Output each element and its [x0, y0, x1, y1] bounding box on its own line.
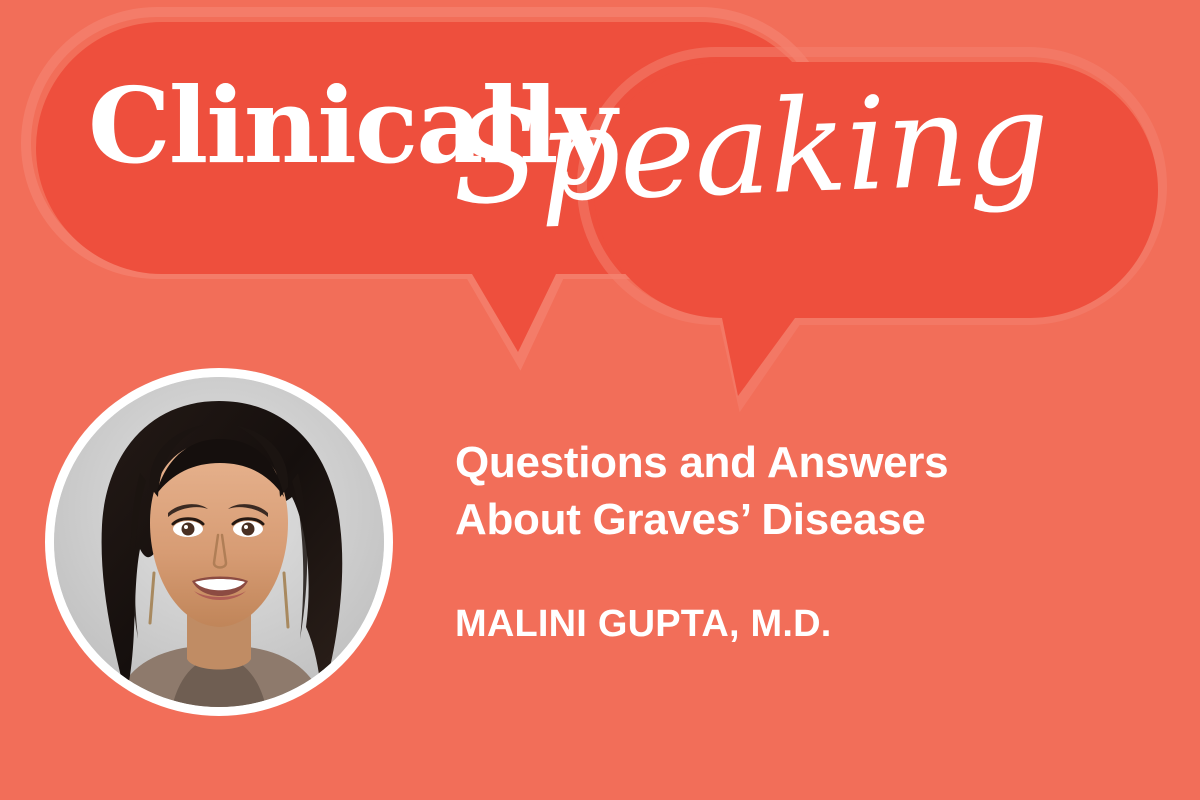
- clinically-speaking-card: Clinically Speaking Headshot of Malini G…: [0, 0, 1200, 800]
- copy-block: Questions and Answers About Graves’ Dise…: [455, 434, 1155, 646]
- page-title: Questions and Answers About Graves’ Dise…: [455, 434, 1155, 548]
- avatar: Headshot of Malini Gupta, M.D., smiling,…: [45, 368, 393, 716]
- bubble-front-right: [594, 62, 1158, 396]
- avatar-photo: Headshot of Malini Gupta, M.D., smiling,…: [54, 377, 384, 707]
- speaker-byline: MALINI GUPTA, M.D.: [455, 548, 1155, 646]
